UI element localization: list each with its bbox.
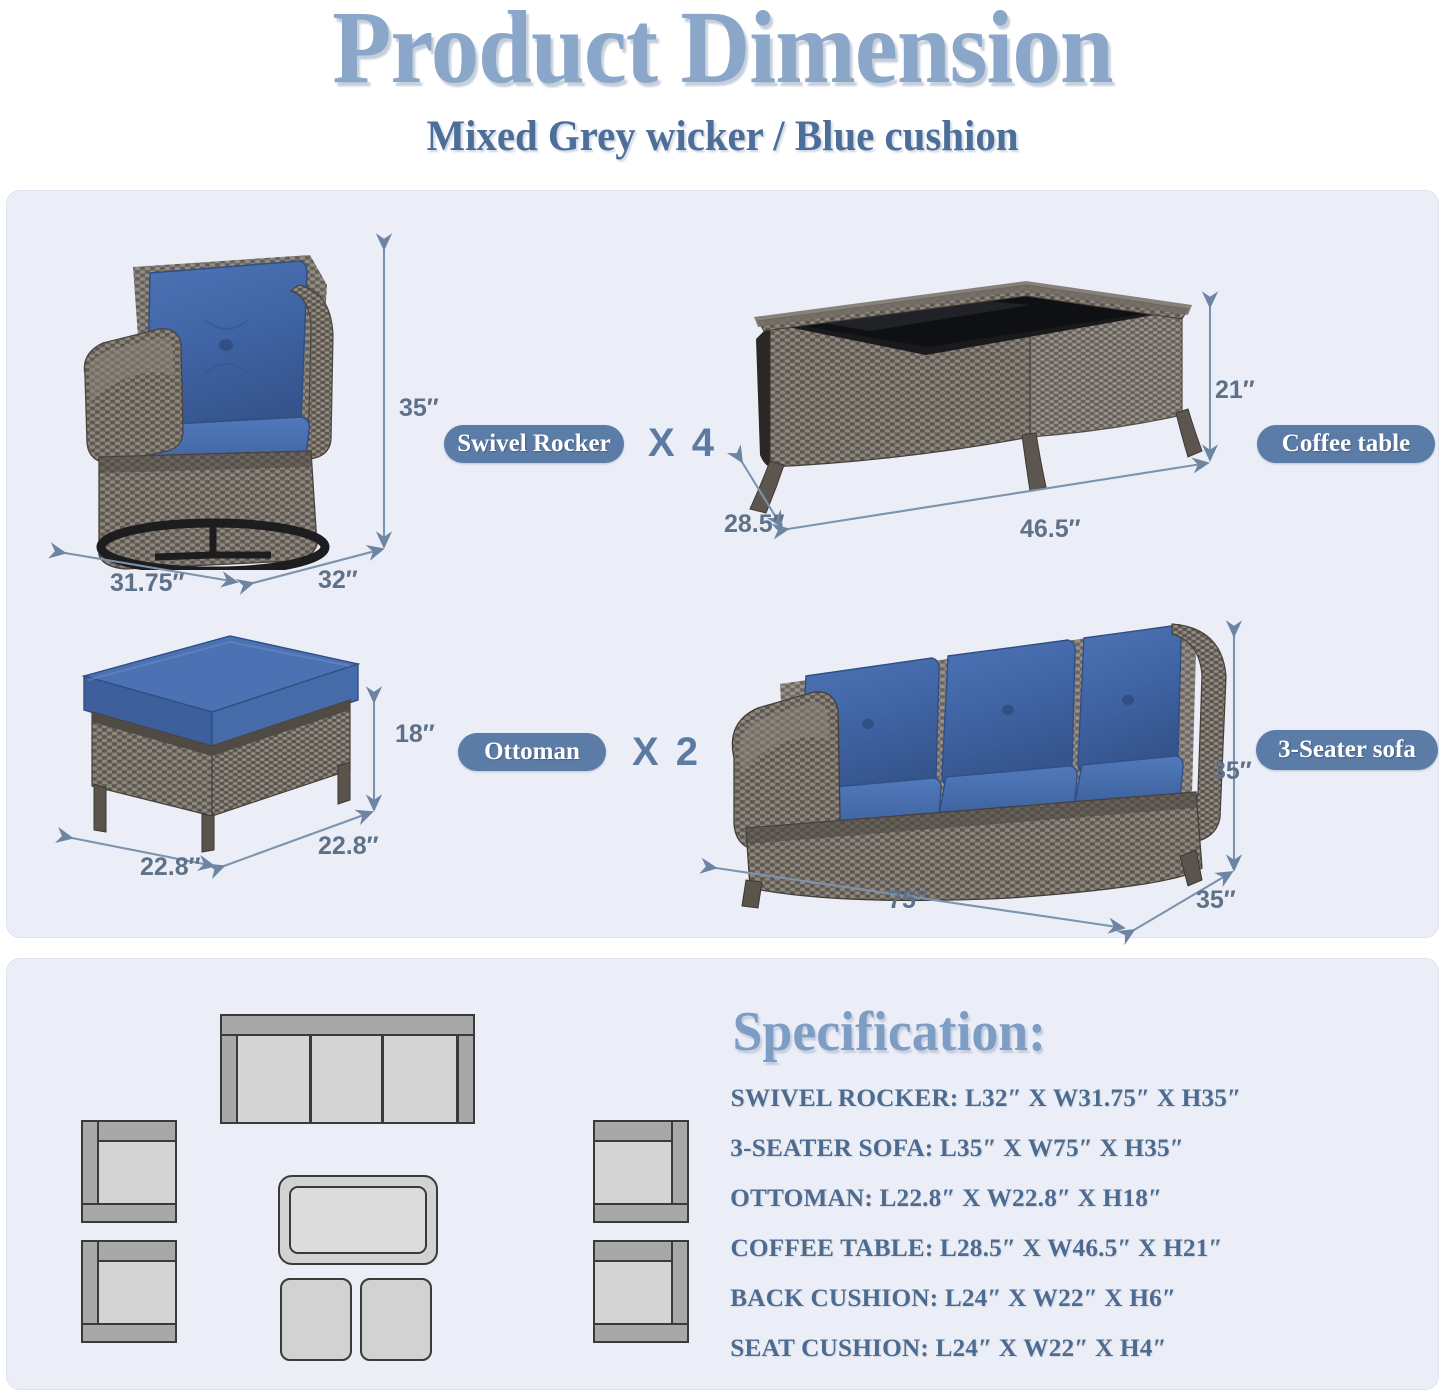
swivel-rocker-depth-dimension: 32″ xyxy=(318,566,358,595)
layout-chair xyxy=(593,1240,689,1343)
three-seater-sofa-width-dimension: 75″ xyxy=(888,886,928,915)
specification-heading: Specification: xyxy=(733,1000,1047,1064)
ottoman-quantity: X 2 xyxy=(632,730,701,775)
ottoman-label: Ottoman xyxy=(458,733,606,771)
swivel-rocker-illustration xyxy=(55,225,385,570)
page-title: Product Dimension xyxy=(51,0,1395,100)
three-seater-sofa-illustration xyxy=(710,580,1250,910)
coffee-table-depth-dimension: 28.5″ xyxy=(724,510,785,539)
three-seater-sofa-height-dimension: 35″ xyxy=(1212,757,1252,786)
layout-ottoman xyxy=(280,1278,352,1361)
three-seater-sofa-depth-dimension: 35″ xyxy=(1196,886,1236,915)
three-seater-sofa-label: 3-Seater sofa xyxy=(1256,730,1438,770)
coffee-table-height-dimension: 21″ xyxy=(1215,376,1255,405)
layout-sofa xyxy=(220,1014,475,1124)
coffee-table-illustration xyxy=(730,265,1210,525)
spec-line-coffee-table: COFFEE TABLE: L28.5″ X W46.5″ X H21″ xyxy=(730,1233,1222,1263)
swivel-rocker-width-dimension: 31.75″ xyxy=(110,569,185,598)
layout-chair xyxy=(593,1120,689,1223)
page-header: Product Dimension Mixed Grey wicker / Bl… xyxy=(0,0,1445,185)
spec-line-ottoman: OTTOMAN: L22.8″ X W22.8″ X H18″ xyxy=(730,1183,1162,1213)
spec-line-seat-cushion: SEAT CUSHION: L24″ X W22″ X H4″ xyxy=(730,1333,1167,1363)
coffee-table-width-dimension: 46.5″ xyxy=(1020,515,1081,544)
swivel-rocker-quantity: X 4 xyxy=(648,421,717,466)
ottoman-illustration xyxy=(62,620,377,865)
spec-line-back-cushion: BACK CUSHION: L24″ X W22″ X H6″ xyxy=(730,1283,1176,1313)
spec-line-three-seater-sofa: 3-SEATER SOFA: L35″ X W75″ X H35″ xyxy=(730,1133,1184,1163)
layout-coffee-table xyxy=(278,1175,438,1265)
coffee-table-label: Coffee table xyxy=(1257,425,1435,463)
layout-chair xyxy=(81,1120,177,1223)
swivel-rocker-height-dimension: 35″ xyxy=(399,394,439,423)
ottoman-width-dimension: 22.8″ xyxy=(140,853,201,882)
page-subtitle: Mixed Grey wicker / Blue cushion xyxy=(36,112,1409,161)
layout-chair xyxy=(81,1240,177,1343)
swivel-rocker-label: Swivel Rocker xyxy=(444,425,624,463)
ottoman-depth-dimension: 22.8″ xyxy=(318,832,379,861)
spec-line-swivel-rocker: SWIVEL ROCKER: L32″ X W31.75″ X H35″ xyxy=(731,1083,1242,1113)
layout-ottoman xyxy=(360,1278,432,1361)
ottoman-height-dimension: 18″ xyxy=(395,720,435,749)
layout-diagram xyxy=(75,1000,695,1380)
